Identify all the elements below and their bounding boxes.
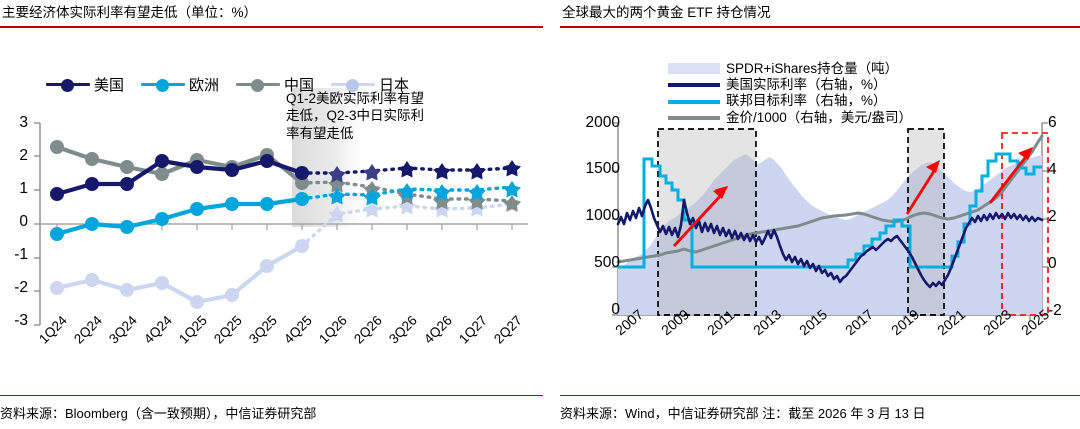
series-europe [50, 181, 521, 241]
left-chart-legend: 美国 欧洲 中国 日本 [46, 74, 506, 95]
legend-label-us-real-rate: 美国实际利率（右轴，%） [726, 77, 887, 93]
y-right-tick-0: 0 [1048, 255, 1057, 273]
legend-marker-us-icon [46, 77, 90, 91]
y-tick-1: 1 [2, 180, 28, 198]
legend-item-fed-target-rate[interactable]: 联邦目标利率（右轴，%） [668, 93, 1068, 109]
legend-marker-europe-icon [141, 77, 185, 91]
right-chart-legend: SPDR+iShares持仓量（吨） 美国实际利率（右轴，%） 联邦目标利率（右… [668, 61, 1068, 127]
legend-label-europe: 欧洲 [189, 74, 219, 95]
left-chart-area: 美国 欧洲 中国 日本 [0, 28, 543, 368]
legend-item-us-real-rate[interactable]: 美国实际利率（右轴，%） [668, 77, 1068, 93]
right-chart-panel: 全球最大的两个黄金 ETF 持仓情况 SPDR+iShares持仓量（吨） 美国… [560, 0, 1080, 429]
left-panel-footer: 资料来源：Bloomberg（含一致预期），中信证券研究部 [0, 395, 543, 423]
report-figure-page: 主要经济体实际利率有望走低（单位：%） 美国 欧洲 [0, 0, 1080, 429]
right-source-note: 资料来源：Wind，中信证券研究部 注：截至 2026 年 3 月 13 日 [560, 396, 1080, 423]
highlight-box-2008-2011 [658, 129, 756, 315]
y-right-tick-4: 4 [1048, 161, 1057, 179]
legend-label-gold-price: 金价/1000（右轴，美元/盎司） [726, 110, 912, 126]
series-us [50, 154, 521, 201]
legend-marker-us-real-rate-icon [668, 83, 720, 87]
right-panel-footer: 资料来源：Wind，中信证券研究部 注：截至 2026 年 3 月 13 日 [560, 395, 1080, 423]
legend-marker-fed-target-rate-icon [668, 100, 720, 104]
legend-marker-gold-price-icon [668, 116, 720, 120]
y-left-tick-500: 500 [560, 254, 620, 272]
y-left-tick-2000: 2000 [560, 114, 620, 132]
left-chart-panel: 主要经济体实际利率有望走低（单位：%） 美国 欧洲 [0, 0, 543, 429]
y-tick-3: 3 [2, 114, 28, 132]
legend-item-europe[interactable]: 欧洲 [141, 74, 219, 95]
y-left-tick-1500: 1500 [560, 160, 620, 178]
legend-item-gold-price[interactable]: 金价/1000（右轴，美元/盎司） [668, 110, 1068, 126]
legend-item-etf-holdings[interactable]: SPDR+iShares持仓量（吨） [668, 61, 1068, 77]
y-tick-neg1: -1 [2, 246, 28, 264]
left-chart-annotation: Q1-2美欧实际利率有望走低，Q2-3中日实际利率有望走低 [286, 90, 436, 143]
y-left-tick-1000: 1000 [560, 207, 620, 225]
y-tick-neg3: -3 [2, 312, 28, 330]
y-left-tick-0: 0 [560, 301, 620, 319]
y-right-tick-6: 6 [1048, 114, 1057, 132]
y-tick-2: 2 [2, 147, 28, 165]
left-panel-title: 主要经济体实际利率有望走低（单位：%） [0, 0, 543, 26]
right-panel-title: 全球最大的两个黄金 ETF 持仓情况 [560, 0, 1080, 26]
highlight-box-2020-2021 [908, 129, 944, 315]
series-japan [50, 196, 521, 309]
legend-item-us[interactable]: 美国 [46, 74, 124, 95]
legend-label-fed-target-rate: 联邦目标利率（右轴，%） [726, 93, 887, 109]
right-chart-area: SPDR+iShares持仓量（吨） 美国实际利率（右轴，%） 联邦目标利率（右… [560, 28, 1080, 368]
legend-label-etf-holdings: SPDR+iShares持仓量（吨） [726, 61, 898, 77]
y-tick-neg2: -2 [2, 279, 28, 297]
legend-label-us: 美国 [94, 74, 124, 95]
y-right-tick-2: 2 [1048, 208, 1057, 226]
y-tick-marks [34, 123, 40, 325]
legend-marker-etf-holdings-icon [668, 63, 720, 74]
legend-marker-china-icon [236, 77, 280, 91]
y-tick-0: 0 [2, 213, 28, 231]
left-source-note: 资料来源：Bloomberg（含一致预期），中信证券研究部 [0, 396, 543, 423]
